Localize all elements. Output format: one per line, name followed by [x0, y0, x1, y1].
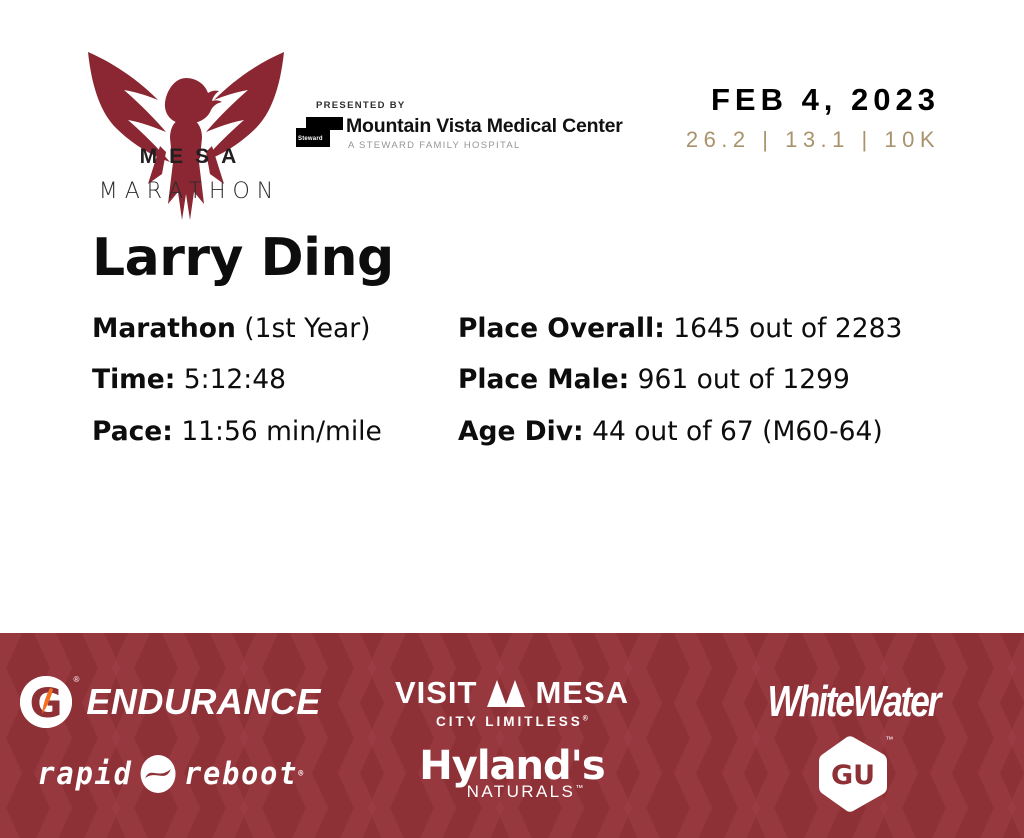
- mountain-peaks-icon: [485, 678, 527, 708]
- hylands-wordmark: Hyland's: [419, 746, 604, 786]
- race-date-block: FEB 4, 2023 26.2 | 13.1 | 10K: [680, 82, 940, 153]
- stat-cell-left: Time: 5:12:48: [92, 365, 458, 395]
- stat-cell-left: Pace: 11:56 min/mile: [92, 417, 458, 447]
- results-stats: Marathon (1st Year) Place Overall: 1645 …: [92, 314, 952, 468]
- steward-mark-label: Steward: [298, 136, 323, 142]
- stat-value: (1st Year): [244, 313, 370, 344]
- presenter-name: Mountain Vista Medical Center: [346, 115, 623, 138]
- stat-label: Age Div:: [458, 416, 584, 447]
- sponsor-gatorade-endurance: G ® ENDURANCE: [21, 666, 321, 738]
- visit-mesa-tagline: CITY LIMITLESS: [436, 714, 583, 729]
- whitewater-wordmark: WhiteWater: [767, 677, 939, 727]
- presented-by-label: PRESENTED BY: [316, 100, 596, 111]
- stat-row: Pace: 11:56 min/mile Age Div: 44 out of …: [92, 417, 952, 447]
- stat-value: 961 out of 1299: [638, 364, 850, 395]
- stat-label: Time:: [92, 364, 175, 395]
- stat-label: Pace:: [92, 416, 173, 447]
- race-distances: 26.2 | 13.1 | 10K: [680, 127, 940, 153]
- mesa-marathon-logo: MESA MARATHON: [82, 34, 290, 224]
- stat-cell-right: Place Overall: 1645 out of 2283: [458, 314, 952, 344]
- rapid-reboot-word-b: reboot: [184, 756, 298, 792]
- presenter-subtitle: A STEWARD FAMILY HOSPITAL: [348, 140, 623, 151]
- results-body: Larry Ding Marathon (1st Year) Place Ove…: [0, 232, 1024, 633]
- registered-mark: ®: [74, 675, 80, 684]
- hexagon-icon: GU ™: [817, 735, 889, 813]
- sponsor-row-1: G ® ENDURANCE VISIT: [0, 666, 1024, 738]
- race-date: FEB 4, 2023: [680, 82, 940, 118]
- registered-mark: ®: [298, 769, 303, 779]
- stat-cell-right: Age Div: 44 out of 67 (M60-64): [458, 417, 952, 447]
- stat-value: 44 out of 67 (M60-64): [592, 416, 883, 447]
- stat-cell-left: Marathon (1st Year): [92, 314, 458, 344]
- trademark-mark: ™: [885, 735, 893, 744]
- certificate-header: MESA MARATHON PRESENTED BY Steward Mount…: [0, 0, 1024, 232]
- sponsor-row-2: rapid reboot ® Hyland's NATURALS™: [0, 738, 1024, 810]
- sponsor-visit-mesa: VISIT MESA CITY LIMITLESS®: [362, 666, 662, 738]
- sponsor-grid: G ® ENDURANCE VISIT: [0, 633, 1024, 838]
- stat-row: Marathon (1st Year) Place Overall: 1645 …: [92, 314, 952, 344]
- stat-value: 1645 out of 2283: [673, 313, 902, 344]
- phoenix-icon: [82, 34, 290, 224]
- visit-mesa-word-b: MESA: [535, 675, 629, 711]
- stat-value: 11:56 min/mile: [181, 416, 382, 447]
- sponsor-whitewater: WhiteWater: [703, 666, 1003, 738]
- sponsor-hylands: Hyland's NATURALS™: [362, 738, 662, 810]
- steward-logo-icon: Steward: [296, 117, 343, 147]
- sponsor-rapid-reboot: rapid reboot ®: [21, 738, 321, 810]
- stat-value: 5:12:48: [184, 364, 286, 395]
- stat-cell-right: Place Male: 961 out of 1299: [458, 365, 952, 395]
- gatorade-g-icon: G ®: [20, 676, 72, 728]
- stat-row: Time: 5:12:48 Place Male: 961 out of 129…: [92, 365, 952, 395]
- gatorade-endurance-wordmark: ENDURANCE: [86, 681, 321, 723]
- presenting-sponsor: PRESENTED BY Steward Mountain Vista Medi…: [296, 100, 596, 151]
- visit-mesa-word-a: VISIT: [395, 675, 478, 711]
- rapid-reboot-word-a: rapid: [38, 756, 133, 792]
- stat-label: Marathon: [92, 313, 236, 344]
- gu-wordmark: GU: [831, 760, 875, 791]
- swoosh-icon: [140, 754, 177, 794]
- stat-label: Place Overall:: [458, 313, 665, 344]
- sponsor-footer: G ® ENDURANCE VISIT: [0, 633, 1024, 838]
- athlete-name: Larry Ding: [92, 232, 394, 284]
- stat-label: Place Male:: [458, 364, 629, 395]
- sponsor-gu: GU ™: [703, 738, 1003, 810]
